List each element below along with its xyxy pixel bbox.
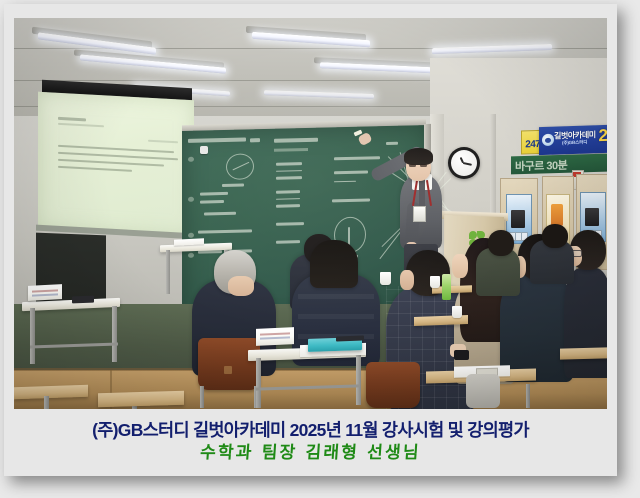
puffer-seam	[298, 294, 374, 299]
desk-leg	[356, 355, 361, 405]
poster-device-image	[511, 210, 525, 228]
audience-head	[488, 230, 514, 256]
puffer-seam	[298, 314, 374, 319]
projector-screen	[38, 92, 194, 236]
photo-card: 247회 길벗아카데미 (주)GB스터디 2 바구르 30분	[4, 4, 617, 476]
desk	[14, 385, 88, 400]
desk-leg	[44, 396, 49, 409]
audience-face	[400, 270, 414, 290]
poster-device-image	[585, 208, 599, 226]
audience-head	[310, 240, 358, 288]
chair-leg	[200, 386, 204, 408]
name-card	[256, 327, 294, 346]
caption-subtitle: 수학과 팀장 김래형 선생님	[199, 443, 421, 464]
bag	[466, 374, 500, 408]
desk	[98, 391, 184, 407]
instructor-id-badge	[413, 206, 426, 222]
name-card	[28, 284, 62, 301]
instructor-hair	[404, 148, 433, 165]
paper-cup	[430, 276, 440, 288]
drink-bottle	[442, 274, 451, 300]
chair-leg	[526, 384, 530, 408]
desk-item	[72, 296, 94, 304]
wall-clock-face	[451, 150, 477, 176]
green-banner-text: 바구르 30분	[515, 157, 567, 174]
instructor-eye	[420, 164, 427, 167]
paper-cup	[380, 272, 391, 285]
chair	[366, 362, 420, 408]
instructor-eye	[409, 164, 416, 167]
audience-face	[452, 254, 468, 278]
desk-item	[336, 336, 364, 342]
instructor-tie	[419, 178, 425, 208]
caption-block: (주)GB스터디 길벗아카데미 2025년 11월 강사시험 및 강의평가 수학…	[4, 409, 617, 476]
classroom-photograph: 247회 길벗아카데미 (주)GB스터디 2 바구르 30분	[14, 18, 607, 409]
board-magnet	[200, 146, 208, 154]
phone-device	[454, 350, 469, 360]
academy-banner-subtitle: (주)GB스터디	[562, 140, 587, 147]
green-banner-strip: 바구르 30분	[511, 154, 607, 175]
poster-product-image	[551, 204, 563, 226]
paper-cup	[452, 306, 462, 318]
audience-face	[228, 276, 254, 296]
caption-title: (주)GB스터디 길벗아카데미 2025년 11월 강사시험 및 강의평가	[92, 420, 529, 440]
desk-leg	[166, 250, 170, 294]
desk-leg	[30, 308, 35, 364]
desk	[560, 347, 607, 359]
chair-label	[224, 366, 232, 374]
desk-leg	[112, 306, 117, 362]
audience-body	[564, 268, 607, 378]
desk-leg	[256, 358, 261, 408]
chair	[198, 338, 260, 390]
academy-banner: 길벗아카데미 (주)GB스터디 2	[539, 125, 607, 155]
academy-logo-icon	[542, 134, 554, 146]
academy-banner-number: 2	[599, 127, 607, 144]
audience-head	[542, 224, 568, 248]
